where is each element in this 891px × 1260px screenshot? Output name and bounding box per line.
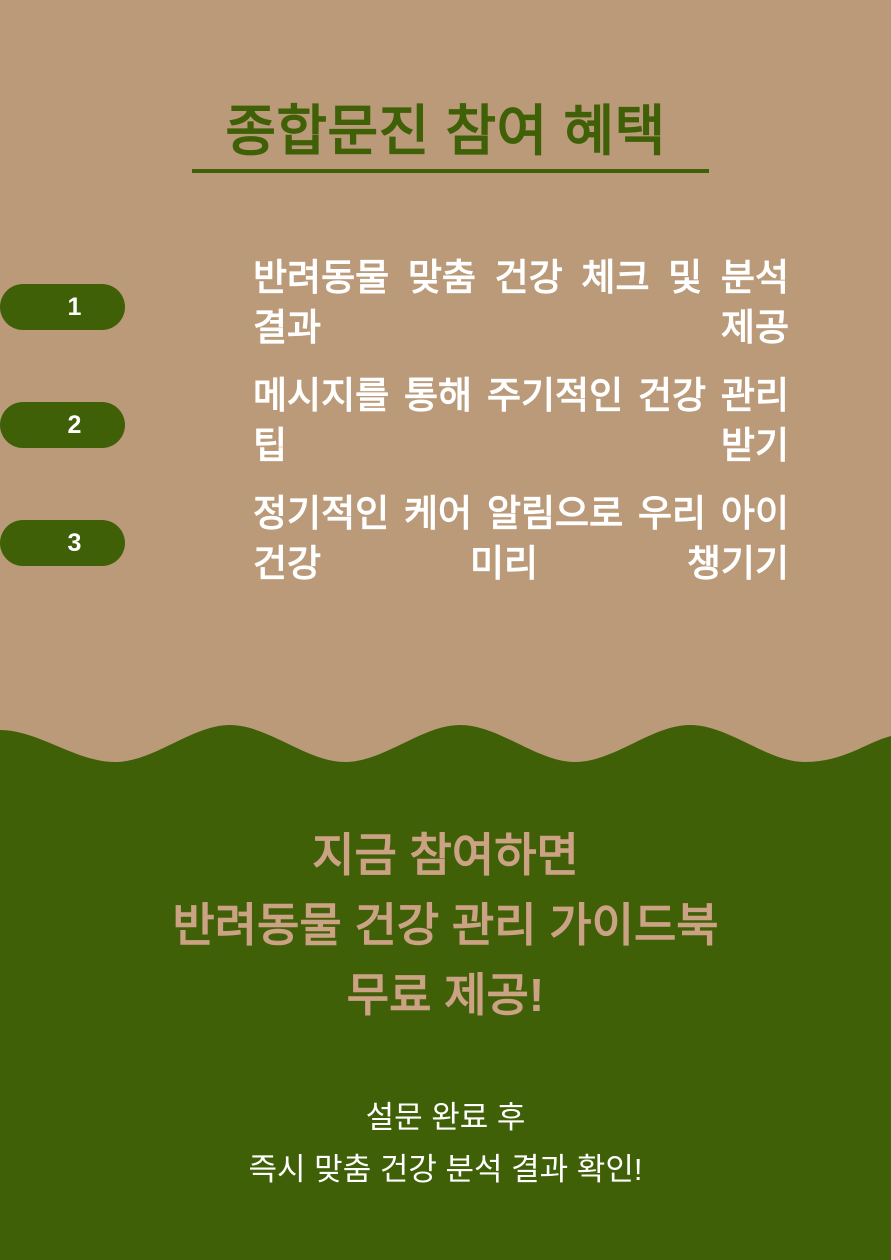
offer-headline-line-2: 반려동물 건강 관리 가이드북 bbox=[0, 890, 891, 960]
bottom-section: 지금 참여하면 반려동물 건강 관리 가이드북 무료 제공! 설문 완료 후 즉… bbox=[0, 820, 891, 1196]
list-item: 2 메시지를 통해 주기적인 건강 관리 팁 받기 bbox=[0, 371, 891, 489]
benefit-number-label: 2 bbox=[0, 402, 125, 448]
list-item: 1 반려동물 맞춤 건강 체크 및 분석 결과 제공 bbox=[0, 253, 891, 371]
page-title: 종합문진 참여 혜택 bbox=[0, 103, 891, 161]
offer-subnote-line-1: 설문 완료 후 bbox=[0, 1092, 891, 1144]
benefit-number-label: 3 bbox=[0, 520, 125, 566]
promo-poster: 종합문진 참여 혜택 1 반려동물 맞춤 건강 체크 및 분석 결과 제공 2 … bbox=[0, 0, 891, 1260]
offer-subnote-line-2: 즉시 맞춤 건강 분석 결과 확인! bbox=[0, 1144, 891, 1196]
benefit-number-badge: 3 bbox=[0, 520, 125, 566]
benefit-number-label: 1 bbox=[0, 284, 125, 330]
top-section: 종합문진 참여 혜택 1 반려동물 맞춤 건강 체크 및 분석 결과 제공 2 … bbox=[0, 0, 891, 740]
offer-headline-line-3: 무료 제공! bbox=[0, 960, 891, 1030]
benefit-list: 1 반려동물 맞춤 건강 체크 및 분석 결과 제공 2 메시지를 통해 주기적… bbox=[0, 253, 891, 607]
title-underline bbox=[192, 169, 709, 173]
offer-headline-line-1: 지금 참여하면 bbox=[0, 820, 891, 890]
offer-subnote: 설문 완료 후 즉시 맞춤 건강 분석 결과 확인! bbox=[0, 1092, 891, 1196]
benefit-text: 정기적인 케어 알림으로 우리 아이 건강 미리 챙기기 bbox=[253, 489, 789, 639]
list-item: 3 정기적인 케어 알림으로 우리 아이 건강 미리 챙기기 bbox=[0, 489, 891, 607]
benefit-number-badge: 2 bbox=[0, 402, 125, 448]
offer-headline: 지금 참여하면 반려동물 건강 관리 가이드북 무료 제공! bbox=[0, 820, 891, 1030]
benefit-number-badge: 1 bbox=[0, 284, 125, 330]
